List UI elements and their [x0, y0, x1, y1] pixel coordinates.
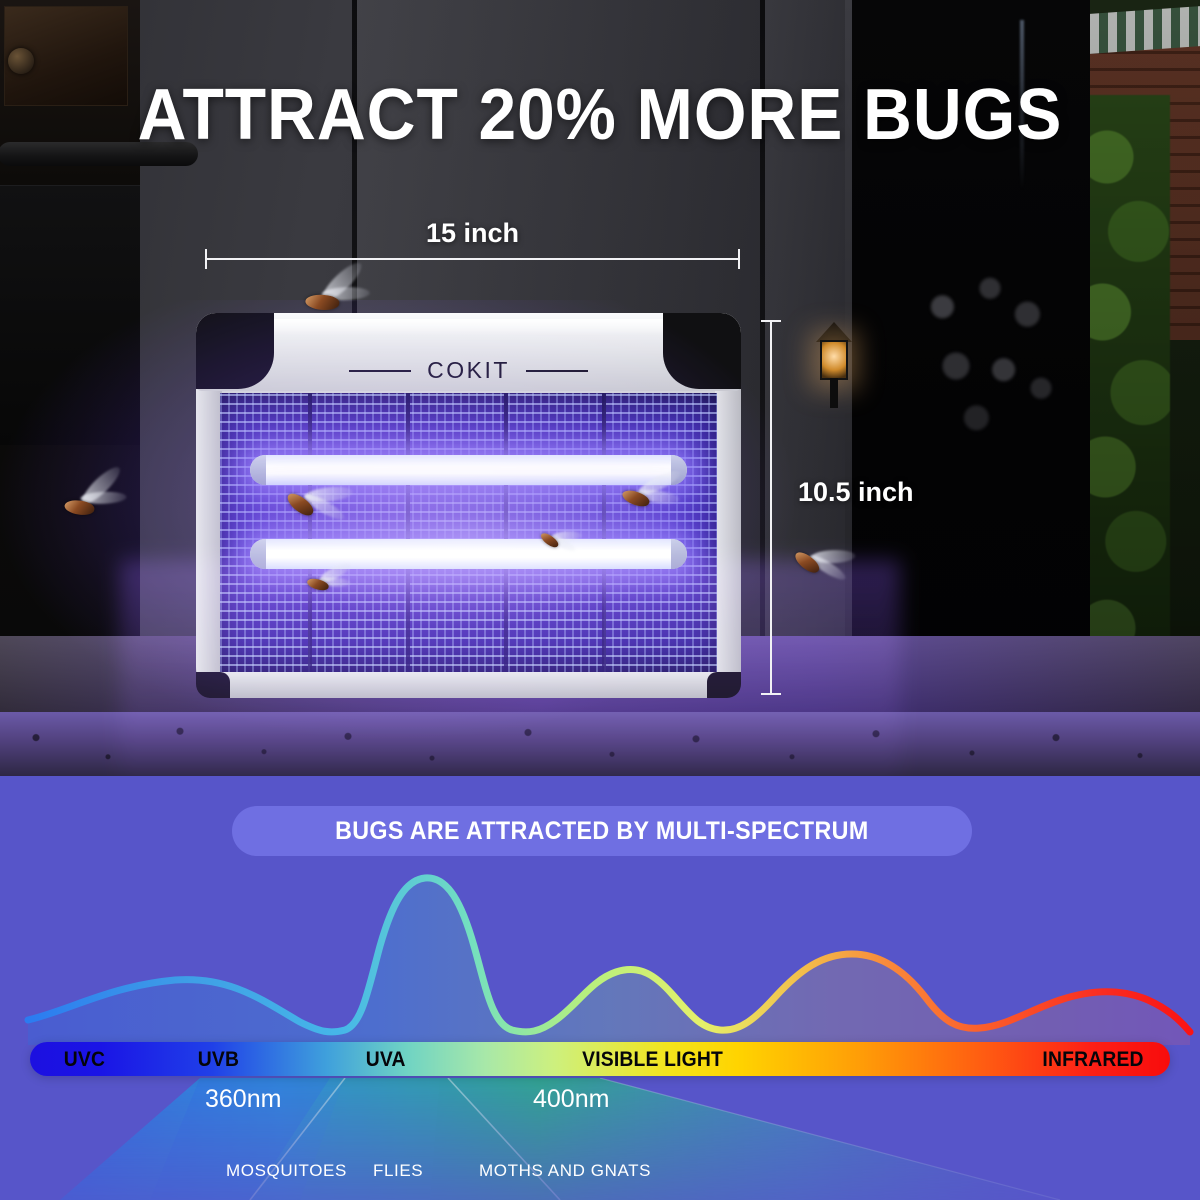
device-left-frame: [196, 389, 222, 681]
grid-rib: [602, 393, 606, 675]
brand-dash-left: [349, 370, 411, 372]
spectrum-band-uvb: UVB: [198, 1048, 239, 1072]
grid-mesh: [220, 393, 717, 675]
height-dimension-label: 10.5 inch: [798, 477, 914, 508]
width-dimension: 15 inch: [205, 218, 740, 260]
brand-name: COKIT: [427, 357, 510, 384]
brand-dash-right: [526, 370, 588, 372]
wavelength-marker-360nm: 360nm: [205, 1085, 281, 1114]
grid-rib: [406, 393, 410, 675]
oven-knob: [8, 48, 34, 74]
grid-rib: [308, 393, 312, 675]
device-baseplate: [212, 672, 725, 698]
porch-lantern: [812, 322, 856, 408]
oven-door: [0, 185, 140, 445]
top-bar-highlight: [236, 319, 701, 335]
spectrum-band-uvc: UVC: [64, 1048, 105, 1072]
spectrum-section-title: BUGS ARE ATTRACTED BY MULTI-SPECTRUM: [335, 817, 868, 846]
height-dimension-line: [770, 320, 772, 695]
grid-rib: [504, 393, 508, 675]
lantern-bulb: [820, 340, 848, 380]
brand-row: COKIT: [196, 357, 741, 384]
spectrum-curve-chart: [0, 860, 1200, 1045]
product-photo-panel: COKIT: [0, 0, 1200, 776]
uv-tube-upper: [250, 455, 687, 485]
uv-tube-lower: [250, 539, 687, 569]
bug-category-flies: FLIES: [373, 1161, 423, 1181]
electric-grid-cage: [220, 393, 717, 675]
wavelength-marker-400nm: 400nm: [533, 1085, 609, 1114]
corner-guard-bottom-right: [707, 672, 741, 698]
lantern-roof: [816, 322, 852, 342]
spectrum-band-visible-light: VISIBLE LIGHT: [582, 1048, 723, 1072]
decorative-flowers: [905, 255, 1075, 440]
bug-zapper-device: COKIT: [196, 313, 741, 698]
spectrum-curve-svg: [0, 860, 1200, 1045]
width-dimension-label: 15 inch: [205, 218, 740, 249]
corner-guard-bottom-left: [196, 672, 230, 698]
height-dimension: 10.5 inch: [770, 320, 772, 695]
bug-category-moths-and-gnats: MOTHS AND GNATS: [479, 1161, 651, 1181]
lantern-post: [830, 378, 838, 408]
device-right-frame: [715, 389, 741, 681]
spectrum-section-title-pill: BUGS ARE ATTRACTED BY MULTI-SPECTRUM: [232, 806, 972, 856]
product-infographic: COKIT: [0, 0, 1200, 1200]
spectrum-band-infrared: INFRARED: [1042, 1048, 1143, 1072]
page-title: ATTRACT 20% MORE BUGS: [36, 74, 1164, 156]
spectrum-band-uva: UVA: [366, 1048, 406, 1072]
width-dimension-line: [205, 258, 740, 260]
bug-category-mosquitoes: MOSQUITOES: [226, 1161, 347, 1181]
countertop-edge: [0, 712, 1200, 776]
